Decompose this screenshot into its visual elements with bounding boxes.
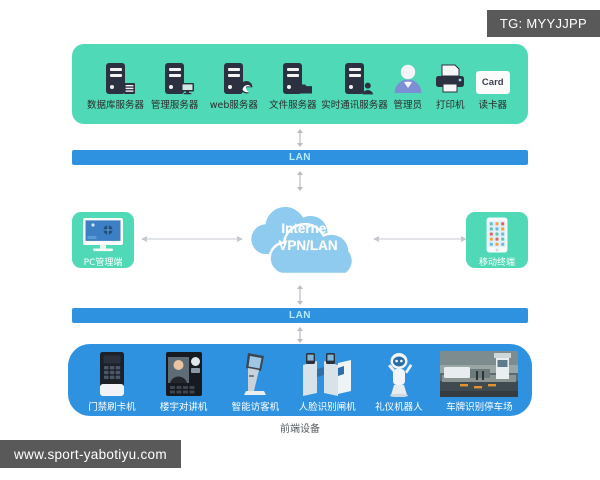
pc-management-terminal-node[interactable]: PC管理端 [72,212,134,268]
lan-bar-top: LAN [72,150,528,165]
monitor-badge-icon [180,81,195,95]
database-server-icon [106,54,125,94]
server-item-label: 管理员 [393,97,422,111]
server-item-printer[interactable]: 打印机 [429,54,472,111]
server-item-file[interactable]: 文件服务器 [263,54,322,111]
web-server-icon [224,54,243,94]
server-item-card-reader[interactable]: Card 读卡器 [472,54,515,111]
mobile-terminal-label: 移动终端 [479,255,515,268]
server-item-label: 打印机 [436,97,465,111]
card-reader-icon: Card [476,54,510,94]
front-end-devices-label: 前端设备 [0,420,600,435]
connector-pc-to-cloud [140,232,244,244]
server-item-management[interactable]: 管理服务器 [145,54,204,111]
realtime-comm-server-icon [345,54,364,94]
connector-cloud-to-mobile [372,232,468,244]
cloud-label: Internet/ VPN/LAN [238,220,378,254]
connector-lan-to-devices [294,326,306,344]
cloud-label-line2: VPN/LAN [238,237,378,254]
device-item-label: 礼仪机器人 [375,399,423,413]
server-item-label: 文件服务器 [269,97,317,111]
device-item-building-intercom[interactable]: 楼宇对讲机 [148,350,220,413]
connector-lan-to-cloud [294,170,306,192]
connector-servers-to-lan [294,128,306,148]
internet-cloud: Internet/ VPN/LAN [238,196,378,282]
mobile-terminal-node[interactable]: 移动终端 [466,212,528,268]
device-item-label: 智能访客机 [232,399,280,413]
device-item-label: 车牌识别停车场 [446,399,513,413]
printer-icon [434,54,466,94]
smart-visitor-kiosk-icon [240,350,270,398]
server-item-realtime-comm[interactable]: 实时通讯服务器 [323,54,387,111]
watermark-top-right: TG: MYYJJPP [487,10,600,37]
device-item-service-robot[interactable]: 礼仪机器人 [363,350,435,413]
file-server-icon [283,54,302,94]
management-server-icon [165,54,184,94]
device-item-label: 楼宇对讲机 [160,399,208,413]
server-item-label: 实时通讯服务器 [321,97,388,111]
face-recognition-gate-icon [300,350,354,398]
user-badge-icon [361,81,375,95]
server-item-database[interactable]: 数据库服务器 [86,54,145,111]
server-item-label: 读卡器 [478,97,507,111]
desktop-monitor-icon [81,217,125,253]
cloud-label-line1: Internet/ [238,220,378,237]
smartphone-icon [485,217,509,253]
license-plate-parking-icon [440,350,518,398]
server-item-web[interactable]: web服务器 [204,54,263,111]
server-item-label: web服务器 [210,97,258,111]
lan-bar-bottom-label: LAN [289,310,311,321]
device-item-smart-visitor-kiosk[interactable]: 智能访客机 [220,350,292,413]
edge-browser-badge-icon [240,80,254,95]
device-item-access-card-reader[interactable]: 门禁刷卡机 [76,350,148,413]
watermark-bottom-left: www.sport-yabotiyu.com [0,440,181,468]
device-item-label: 人脸识别闸机 [299,399,356,413]
device-item-license-plate-parking[interactable]: 车牌识别停车场 [435,350,524,413]
card-reader-card-text: Card [482,77,504,88]
device-item-face-recognition-gate[interactable]: 人脸识别闸机 [291,350,363,413]
lan-bar-top-label: LAN [289,152,311,163]
server-tier-panel: 数据库服务器 管理服务器 [72,44,528,124]
server-item-label: 数据库服务器 [87,97,144,111]
building-intercom-icon [165,350,203,398]
server-item-label: 管理服务器 [151,97,199,111]
device-tier-panel: 门禁刷卡机 [68,344,532,416]
diagram-canvas: 数据库服务器 管理服务器 [0,0,600,480]
database-badge-icon [123,81,136,95]
access-card-reader-device-icon [96,350,128,398]
lan-bar-bottom: LAN [72,308,528,323]
service-robot-icon [383,350,415,398]
folder-badge-icon [300,81,313,95]
server-item-administrator[interactable]: 管理员 [387,54,430,111]
connector-cloud-to-lan-bottom [294,284,306,306]
administrator-icon [393,54,423,94]
device-item-label: 门禁刷卡机 [88,399,136,413]
pc-terminal-label: PC管理端 [84,255,123,268]
